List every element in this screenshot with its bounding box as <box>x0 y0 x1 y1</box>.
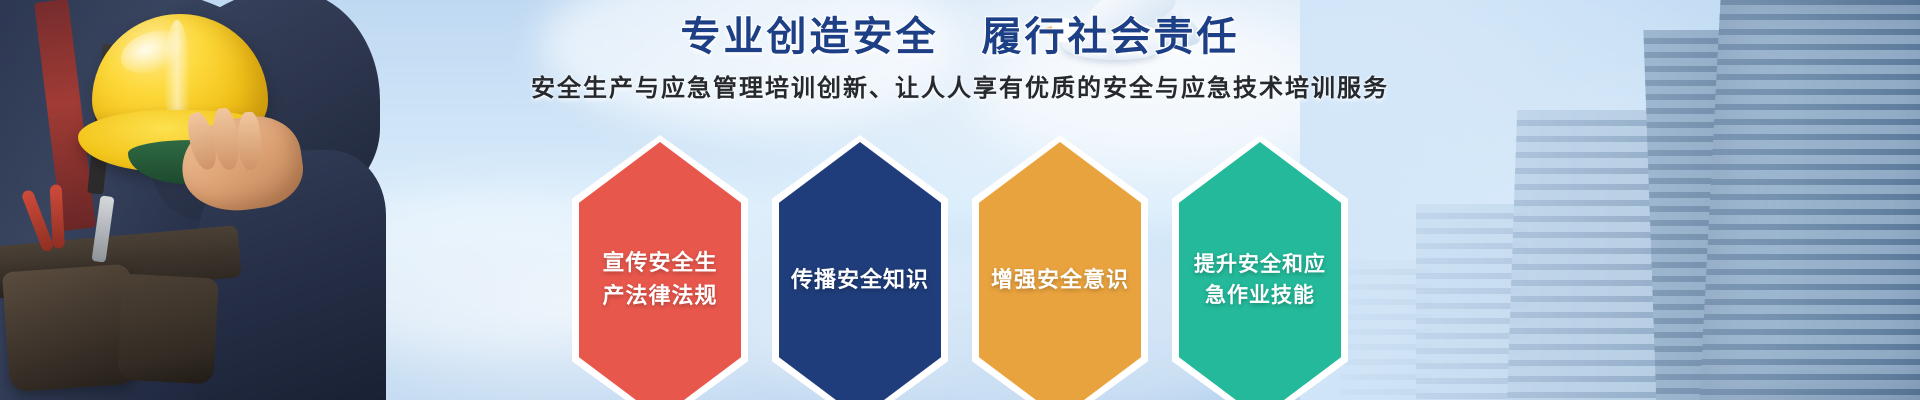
hexagon-label: 宣传安全生 产法律法规 <box>584 247 736 313</box>
hexagon-label: 传播安全知识 <box>784 264 936 297</box>
banner-subheadline: 安全生产与应急管理培训创新、让人人享有优质的安全与应急技术培训服务 <box>0 68 1920 103</box>
hexagon-card-2[interactable]: 传播安全知识 <box>772 135 948 400</box>
hexagon-label: 增强安全意识 <box>984 264 1136 297</box>
hexagon-label: 提升安全和应 急作业技能 <box>1184 249 1336 312</box>
hexagon-card-1[interactable]: 宣传安全生 产法律法规 <box>572 135 748 400</box>
hexagon-slogan-row: 宣传安全生 产法律法规 传播安全知识 增强安全意识 提升安全和应 急作业技能 <box>0 135 1920 400</box>
hexagon-card-3[interactable]: 增强安全意识 <box>972 135 1148 400</box>
safety-training-banner: 专业创造安全 履行社会责任 安全生产与应急管理培训创新、让人人享有优质的安全与应… <box>0 0 1920 400</box>
hexagon-card-4[interactable]: 提升安全和应 急作业技能 <box>1172 135 1348 400</box>
banner-headline: 专业创造安全 履行社会责任 <box>0 4 1920 62</box>
